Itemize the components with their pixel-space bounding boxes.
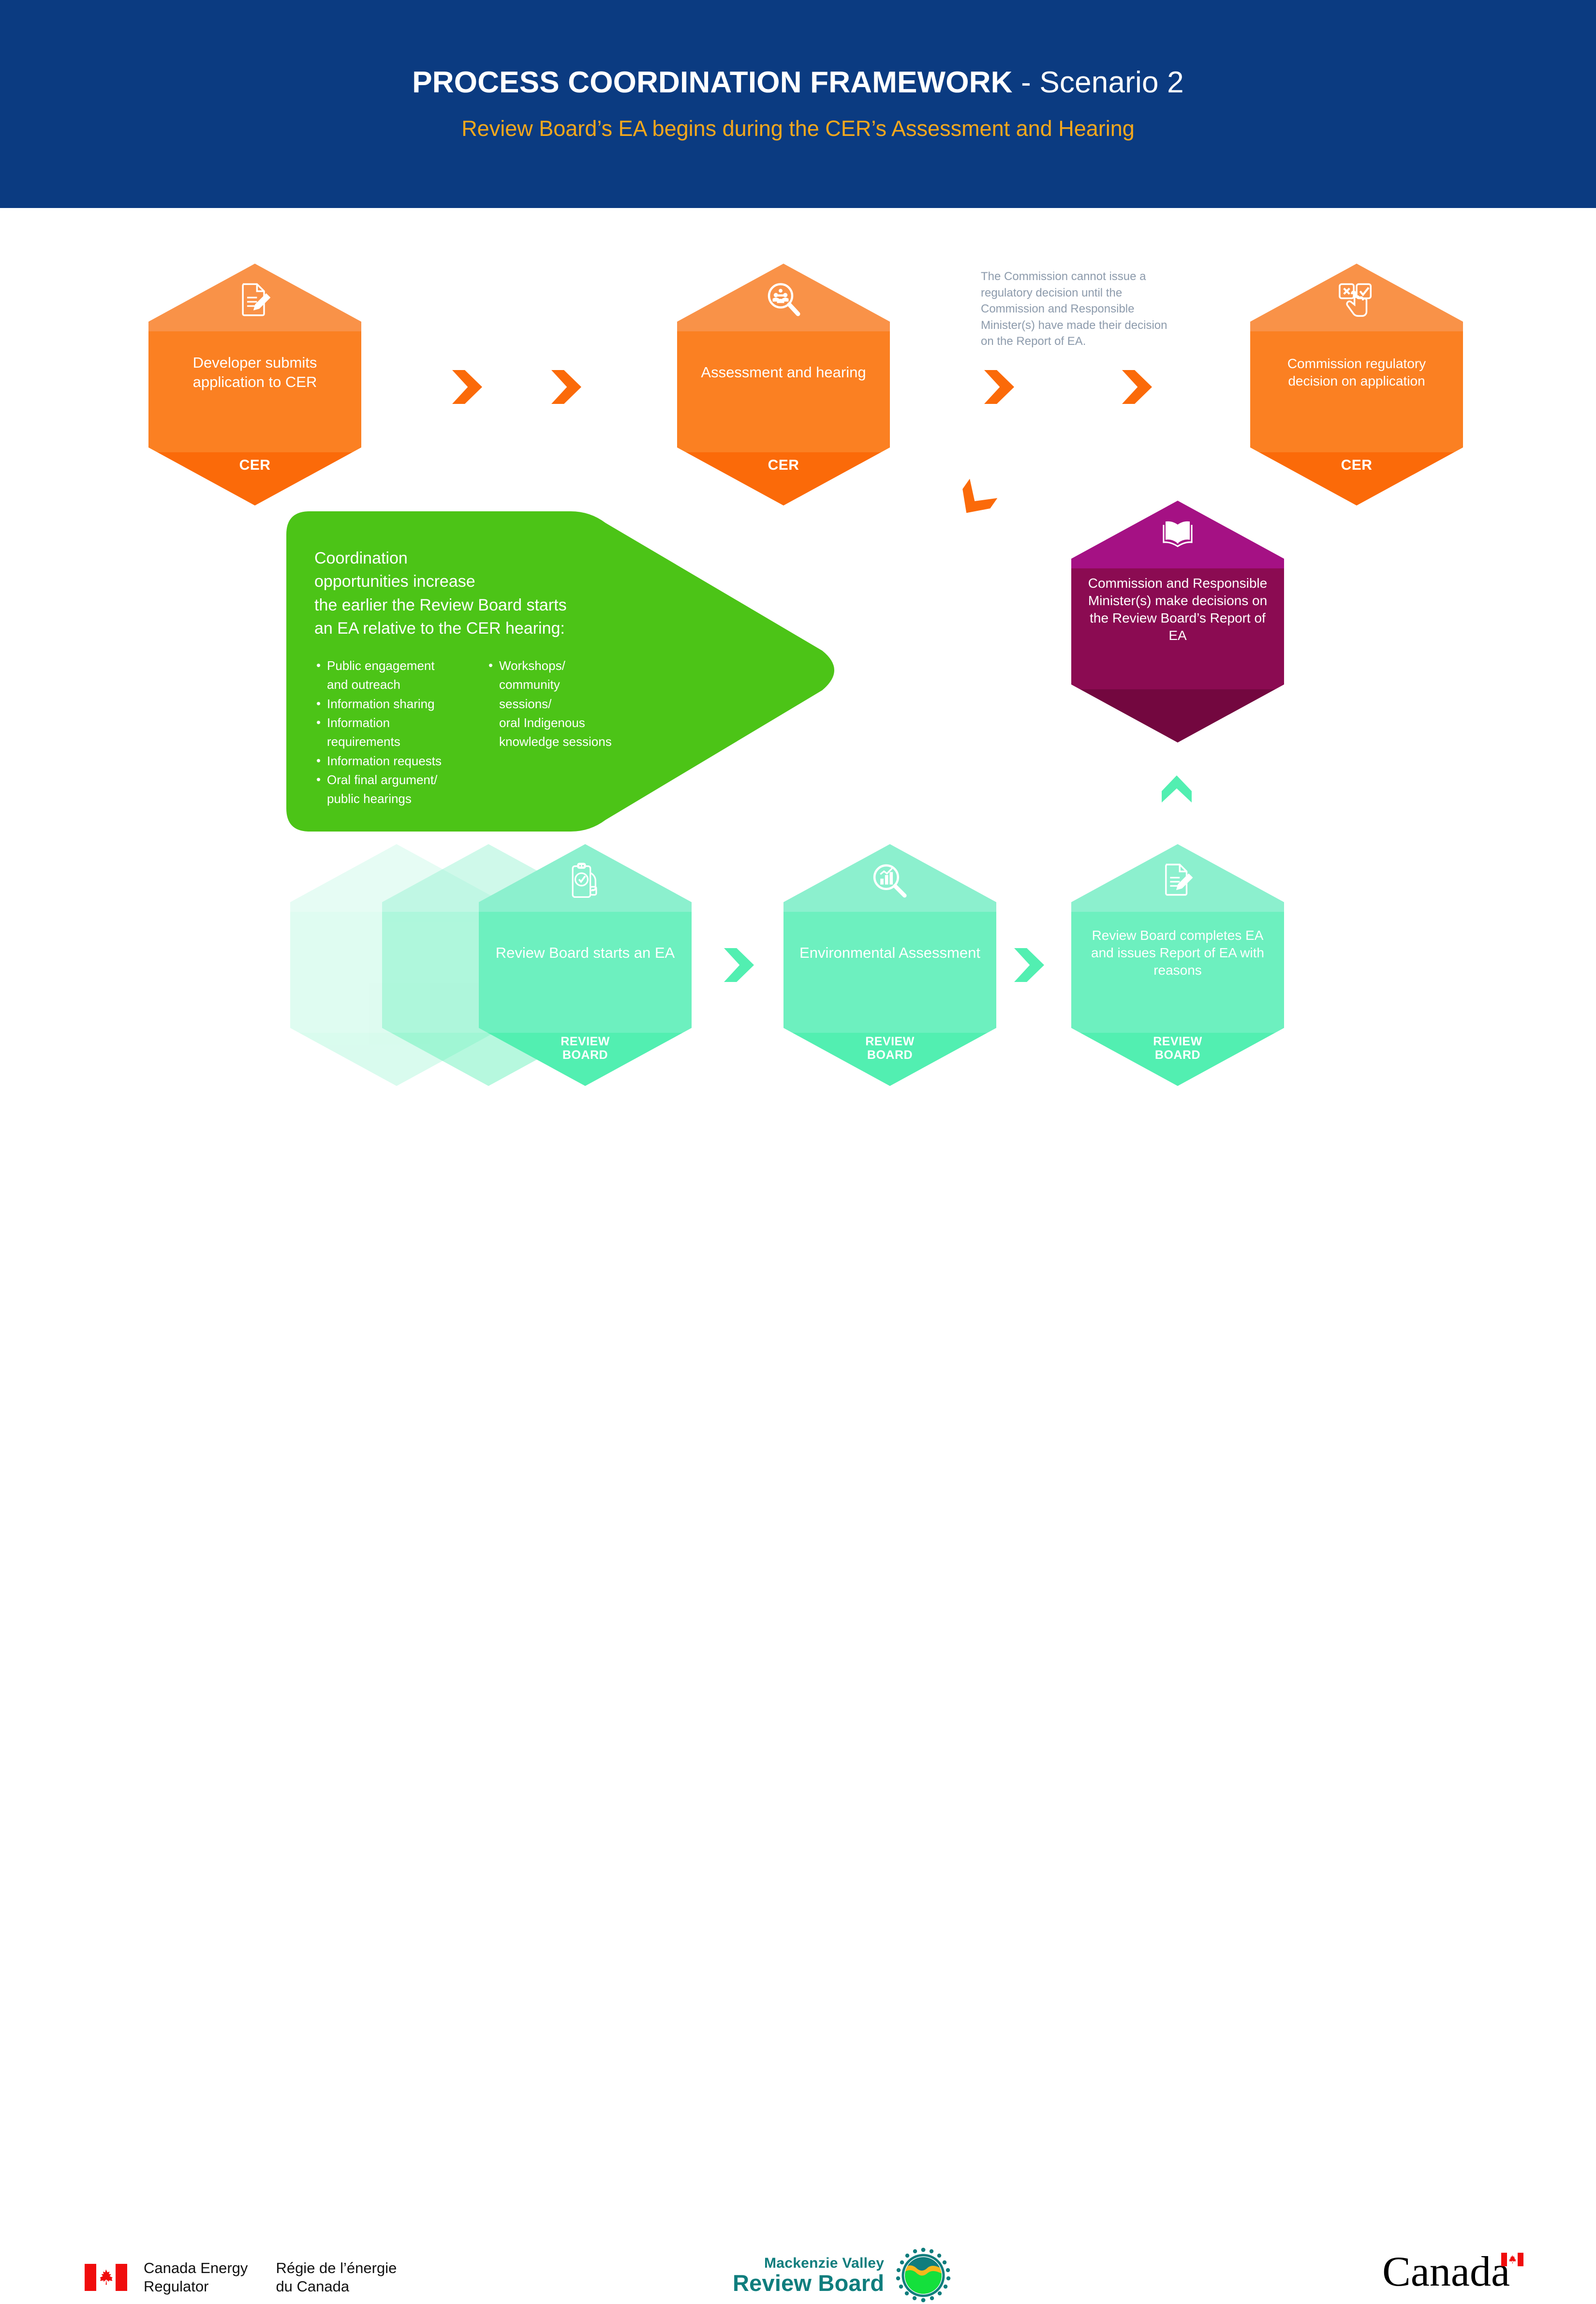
callout-bullet: Information requests bbox=[314, 753, 474, 769]
node-org-line2: BOARD bbox=[1155, 1048, 1200, 1062]
node-org-label: REVIEW BOARD bbox=[783, 1035, 996, 1062]
node-org-label: REVIEW BOARD bbox=[1071, 1035, 1284, 1062]
arrow-chevron-up bbox=[1162, 775, 1192, 803]
node-review-board-completes-ea[interactable]: Review Board completes EA and issues Rep… bbox=[1071, 844, 1284, 1086]
arrow-chevron-right bbox=[1014, 948, 1044, 982]
node-label: Environmental Assessment bbox=[783, 844, 996, 1033]
callout-bullet-cont: knowledge sessions bbox=[487, 733, 646, 750]
mackenzie-valley-review-board-logo: Mackenzie Valley Review Board bbox=[733, 2247, 952, 2304]
arrow-chevron-down-left bbox=[953, 479, 998, 523]
page-footer: Canada Energy Regulator Régie de l’énerg… bbox=[0, 1113, 1596, 1234]
node-org-line2: BOARD bbox=[562, 1048, 608, 1062]
cer-en-line1: Canada Energy bbox=[144, 2259, 248, 2276]
callout-bullet: Workshops/ bbox=[487, 657, 646, 674]
node-environmental-assessment[interactable]: Environmental Assessment REVIEW BOARD bbox=[783, 844, 996, 1086]
arrow-chevron-right bbox=[452, 370, 482, 404]
mv-line1: Mackenzie Valley bbox=[733, 2255, 884, 2272]
node-org-line2: BOARD bbox=[867, 1048, 913, 1062]
mv-circle-emblem-icon bbox=[895, 2247, 952, 2304]
node-org-line1: REVIEW bbox=[865, 1035, 915, 1048]
node-assessment-and-hearing[interactable]: Assessment and hearing CER bbox=[677, 264, 890, 505]
callout-bullet-cont: public hearings bbox=[314, 790, 474, 807]
canada-flag-icon bbox=[1501, 2253, 1523, 2266]
node-org-label: CER bbox=[148, 457, 361, 474]
mv-line2: Review Board bbox=[733, 2270, 884, 2296]
node-org-label: CER bbox=[677, 457, 890, 474]
canada-wordmark: Canada bbox=[1382, 2252, 1523, 2292]
node-org-label: CER bbox=[1250, 457, 1463, 474]
page-subtitle: Review Board’s EA begins during the CER’… bbox=[0, 116, 1596, 141]
cer-en-line2: Regulator bbox=[144, 2278, 208, 2295]
node-label: Commission and Responsible Minister(s) m… bbox=[1071, 501, 1284, 689]
page-title: PROCESS COORDINATION FRAMEWORK - Scenari… bbox=[0, 65, 1596, 100]
commission-note: The Commission cannot issue a regulatory… bbox=[981, 268, 1174, 350]
callout-column-right: Workshops/ community sessions/ oral Indi… bbox=[487, 657, 646, 810]
arrow-chevron-right bbox=[984, 370, 1014, 404]
cer-logo-text-en: Canada Energy Regulator bbox=[144, 2259, 248, 2296]
page-title-scenario: Scenario 2 bbox=[1039, 66, 1183, 99]
mv-logo-text: Mackenzie Valley Review Board bbox=[733, 2255, 884, 2296]
node-commission-minister-decisions[interactable]: Commission and Responsible Minister(s) m… bbox=[1071, 501, 1284, 743]
arrow-chevron-right bbox=[724, 948, 754, 982]
coordination-callout-text: Coordinationopportunities increasethe ea… bbox=[314, 547, 653, 810]
callout-bullet-cont: requirements bbox=[314, 733, 474, 750]
hex-band-bottom bbox=[1071, 689, 1284, 743]
callout-bullet-cont: and outreach bbox=[314, 676, 474, 693]
callout-bullet-cont: sessions/ bbox=[487, 696, 646, 712]
canada-flag-icon bbox=[85, 2264, 127, 2291]
node-developer-submits-application[interactable]: Developer submits application to CER CER bbox=[148, 264, 361, 505]
cer-logo-text-fr: Régie de l’énergie du Canada bbox=[276, 2259, 397, 2296]
node-label: Developer submits application to CER bbox=[148, 264, 361, 452]
callout-bullet-cont: community bbox=[487, 676, 646, 693]
callout-bullet: Public engagement bbox=[314, 657, 474, 674]
callout-bullet: Information bbox=[314, 714, 474, 731]
node-org-line1: REVIEW bbox=[1153, 1035, 1202, 1048]
callout-heading: Coordinationopportunities increasethe ea… bbox=[314, 547, 653, 640]
callout-bullet: Information sharing bbox=[314, 696, 474, 712]
callout-column-left: Public engagement and outreach Informati… bbox=[314, 657, 474, 810]
callout-bullet-cont: oral Indigenous bbox=[487, 714, 646, 731]
cer-fr-line1: Régie de l’énergie bbox=[276, 2259, 397, 2276]
node-label: Assessment and hearing bbox=[677, 264, 890, 452]
page-title-bold: PROCESS COORDINATION FRAMEWORK bbox=[412, 66, 1012, 99]
node-org-line1: REVIEW bbox=[561, 1035, 610, 1048]
node-label: Commission regulatory decision on applic… bbox=[1250, 264, 1463, 452]
arrow-chevron-right bbox=[1122, 370, 1152, 404]
node-label: Review Board completes EA and issues Rep… bbox=[1071, 844, 1284, 1033]
arrow-chevron-right bbox=[551, 370, 581, 404]
page-header: PROCESS COORDINATION FRAMEWORK - Scenari… bbox=[0, 0, 1596, 208]
callout-bullet: Oral final argument/ bbox=[314, 772, 474, 788]
page-title-separator: - bbox=[1013, 66, 1040, 99]
cer-fr-line2: du Canada bbox=[276, 2278, 349, 2295]
canada-energy-regulator-logo: Canada Energy Regulator Régie de l’énerg… bbox=[85, 2259, 397, 2296]
node-commission-regulatory-decision[interactable]: Commission regulatory decision on applic… bbox=[1250, 264, 1463, 505]
canada-wordmark-text: Canada bbox=[1382, 2252, 1510, 2292]
